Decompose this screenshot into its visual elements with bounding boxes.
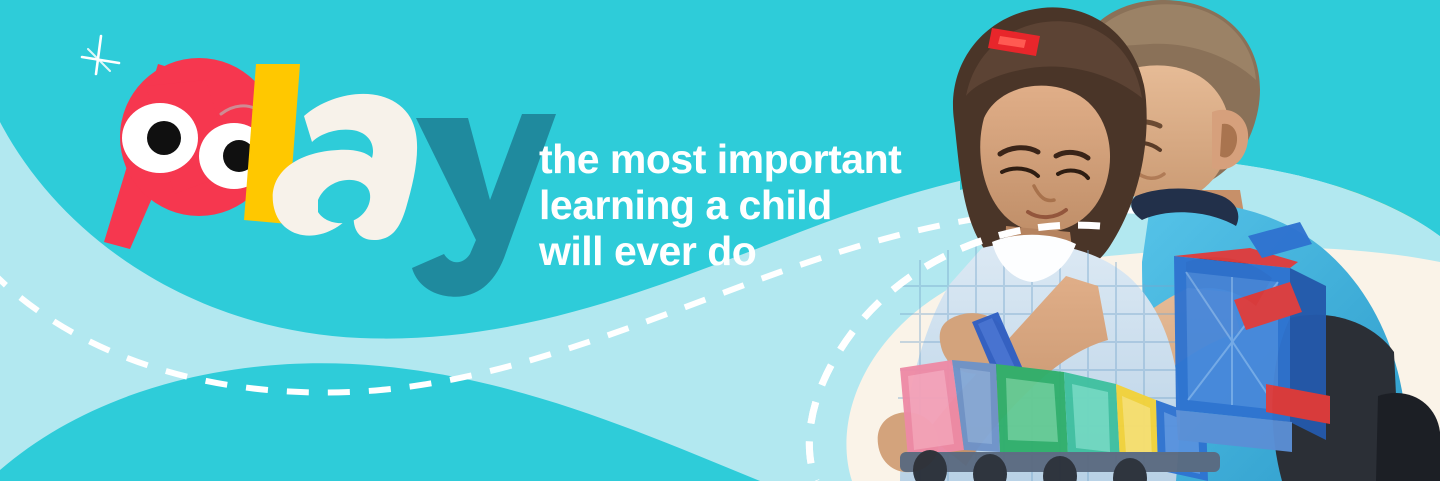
tagline-line-3: will ever do [539, 228, 901, 274]
eye-left-pupil [147, 121, 181, 155]
play-banner: the most important learning a child will… [0, 0, 1440, 481]
play-logo [86, 52, 556, 302]
tagline: the most important learning a child will… [539, 136, 901, 274]
letter-y [412, 114, 556, 297]
tagline-line-2: learning a child [539, 182, 901, 228]
tagline-line-1: the most important [539, 136, 901, 182]
